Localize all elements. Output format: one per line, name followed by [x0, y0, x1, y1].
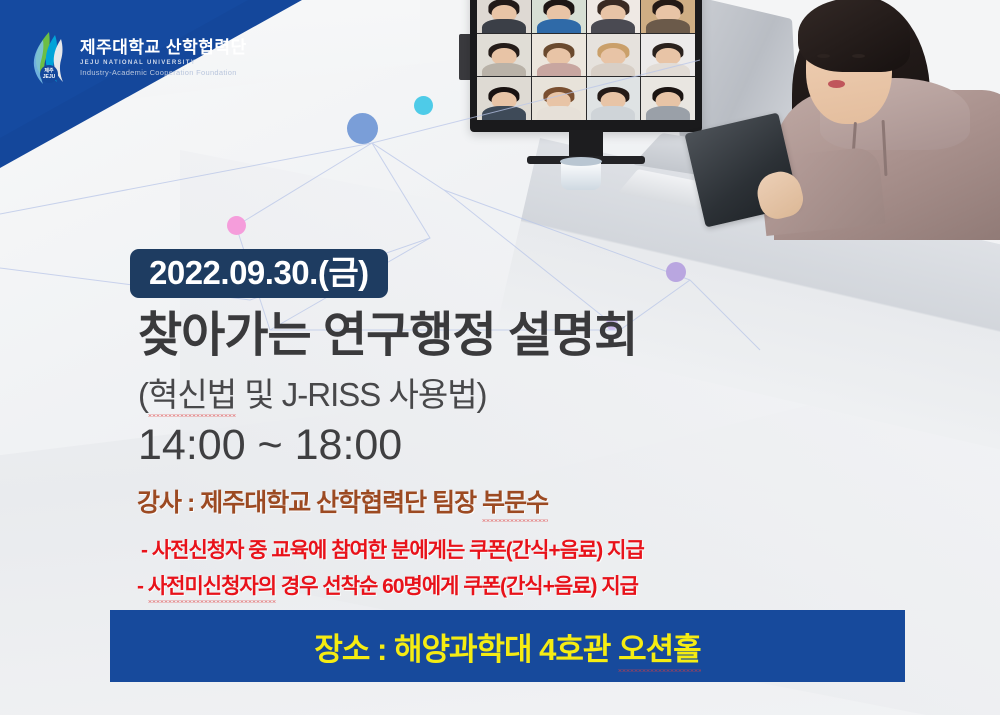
event-time: 14:00 ~ 18:00 [138, 421, 402, 470]
event-date-badge: 2022.09.30.(금) [130, 249, 388, 298]
note-2-prefix: - [137, 575, 148, 598]
instructor-name: 부문수 [482, 483, 548, 519]
poster-content: 2022.09.30.(금) 찾아가는 연구행정 설명회 (혁신법 및 J-RI… [0, 0, 1000, 715]
event-subtitle: (혁신법 및 J-RISS 사용법) [138, 376, 487, 414]
note-2-misspelled-word: 사전미신청자의 [148, 570, 276, 600]
subtitle-misspelled-word: 혁신법 [148, 376, 236, 414]
venue-prefix: 장소 : 해양과학대 4호관 [314, 632, 618, 667]
note-2-suffix: 경우 선착순 60명에게 쿠폰(간식+음료) 지급 [276, 575, 638, 598]
venue-name: 오션홀 [618, 624, 701, 669]
event-instructor: 강사 : 제주대학교 산학협력단 팀장 부문수 [137, 483, 548, 519]
subtitle-rest: 및 J-RISS 사용법) [236, 376, 486, 413]
event-venue-bar: 장소 : 해양과학대 4호관 오션홀 [110, 610, 905, 682]
event-venue-text: 장소 : 해양과학대 4호관 오션홀 [314, 624, 700, 669]
event-note-2: - 사전미신청자의 경우 선착순 60명에게 쿠폰(간식+음료) 지급 [137, 570, 638, 600]
event-title: 찾아가는 연구행정 설명회 [138, 309, 637, 363]
event-poster: 제주 JEJU 제주대학교 산학협력단 JEJU NATIONAL UNIVER… [0, 0, 1000, 715]
note-1-text: - 사전신청자 중 교육에 참여한 분에게는 쿠폰(간식+음료) 지급 [141, 539, 644, 562]
subtitle-open-paren: ( [138, 376, 148, 413]
event-note-1: - 사전신청자 중 교육에 참여한 분에게는 쿠폰(간식+음료) 지급 [141, 534, 644, 564]
instructor-prefix: 강사 : 제주대학교 산학협력단 팀장 [137, 489, 482, 517]
